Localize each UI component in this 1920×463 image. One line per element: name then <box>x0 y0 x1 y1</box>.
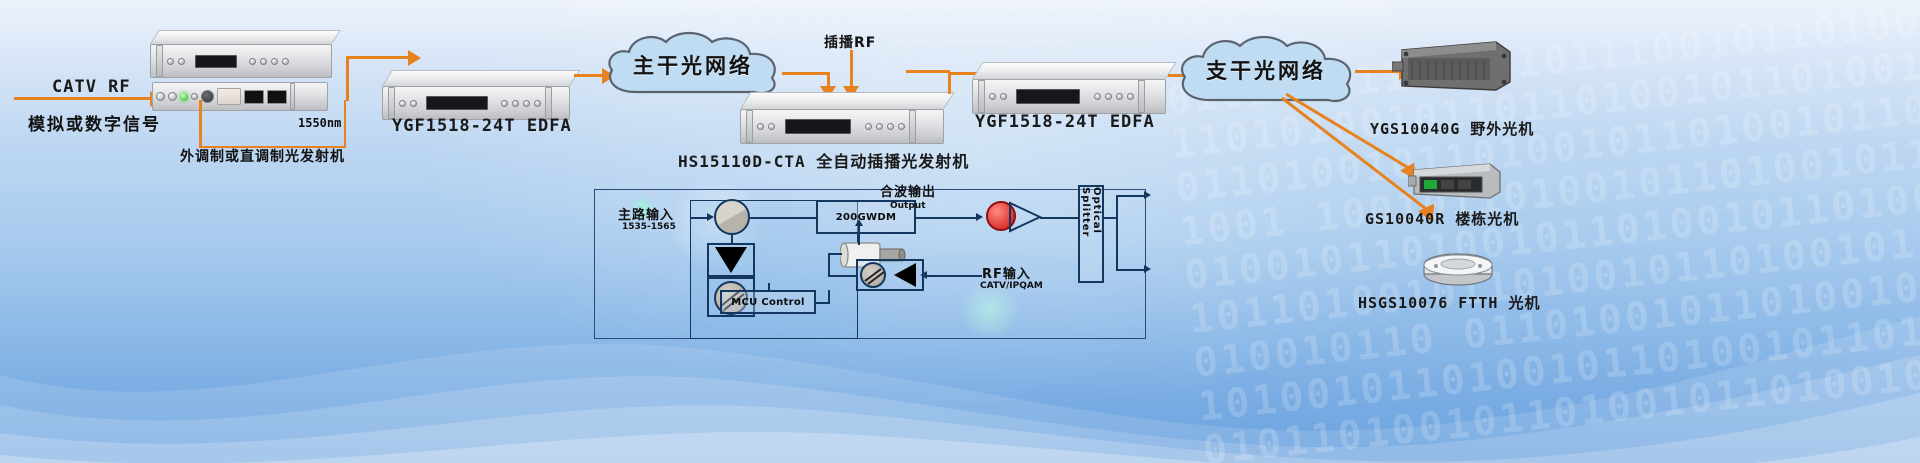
rack-ear <box>545 87 552 119</box>
gs10040r-label: GS10040R 楼栋光机 <box>1365 208 1519 229</box>
panel-knob[interactable] <box>1000 93 1007 100</box>
rack-ear <box>746 110 753 143</box>
splitter-out-1 <box>1116 195 1146 197</box>
insert-rf-arrow-line <box>850 50 853 88</box>
main-input-line <box>690 217 708 219</box>
splitter-out-1-arrow <box>1144 191 1151 199</box>
panel-knob[interactable] <box>168 92 177 101</box>
output-label-en: Output <box>890 201 926 211</box>
panel-knob[interactable] <box>989 93 996 100</box>
optical-splitter-label: Optical Splitter <box>1080 187 1102 281</box>
optical-coupler-icon <box>714 199 750 235</box>
amplifier-triangle-icon <box>1008 201 1042 233</box>
transmitter-to-edfa2-riser <box>948 72 951 94</box>
wavelength-label: 1550nm <box>298 116 341 130</box>
panel-knob[interactable] <box>757 123 764 130</box>
panel-display <box>195 55 237 68</box>
panel-knob[interactable] <box>876 123 883 130</box>
splitter-out-2 <box>1116 269 1146 271</box>
output-label-cn: 合波输出 <box>880 181 936 200</box>
panel-knob[interactable] <box>260 58 267 65</box>
transmitter-to-edfa1-arrow-line <box>346 56 410 59</box>
transmitter-to-edfa1-arrow-head <box>408 50 421 66</box>
status-led-green <box>180 93 188 101</box>
main-input-arrow <box>707 213 714 221</box>
wdm-to-output-line <box>916 217 978 219</box>
transmitter-to-edfa1-riser <box>346 56 349 101</box>
splitter-to-bus-line <box>1104 217 1118 219</box>
chassis-front-panel <box>382 86 570 120</box>
panel-knob[interactable] <box>282 58 289 65</box>
rack-ear <box>1138 80 1145 113</box>
device-hs15110d-cta-transmitter[interactable] <box>740 92 944 144</box>
splitter-output-bus <box>1116 195 1118 271</box>
rack-ear <box>909 110 916 143</box>
panel-knob[interactable] <box>399 100 406 107</box>
laser-to-wdm-line <box>858 223 860 245</box>
panel-knob[interactable] <box>534 100 541 107</box>
panel-knob[interactable] <box>167 58 174 65</box>
main-transmitter-label: HS15110D-CTA 全自动插播光发射机 <box>678 148 969 172</box>
device-gs10040r-building-node[interactable] <box>1408 160 1504 202</box>
main-input-label: 主路输入 <box>618 204 674 223</box>
chassis-front-panel <box>150 44 332 78</box>
chassis-front-panel <box>740 109 944 144</box>
chassis-top-surface <box>382 70 580 86</box>
chassis-top-surface <box>740 92 955 109</box>
hsgs10076-label: HSGS10076 FTTH 光机 <box>1358 292 1540 313</box>
panel-display <box>426 96 488 110</box>
rf-input-line <box>926 275 982 277</box>
panel-knob[interactable] <box>271 58 278 65</box>
rf-input-label-cn: RF输入 <box>982 263 1031 282</box>
panel-knob[interactable] <box>501 100 508 107</box>
panel-knob[interactable] <box>410 100 417 107</box>
transmitter-upward-connector <box>906 70 950 73</box>
panel-knob[interactable] <box>898 123 905 130</box>
device-ygs10040g-outdoor-node[interactable] <box>1392 36 1516 94</box>
ygs10040g-label: YGS10040G 野外光机 <box>1370 118 1534 139</box>
laser-to-wdm-arrow <box>855 219 863 226</box>
rf-amplifier-triangle-icon <box>894 263 916 287</box>
panel-knob[interactable] <box>1127 93 1134 100</box>
panel-knob[interactable] <box>156 92 165 101</box>
edfa-1-label: YGF1518-24T EDFA <box>392 116 572 136</box>
rf-block-feed-line <box>828 275 858 277</box>
mcu-control-block: MCU Control <box>720 290 816 314</box>
rack-ear <box>978 80 985 113</box>
mcu-to-rf-riser <box>828 290 830 302</box>
rf-to-laser-link <box>828 253 842 255</box>
panel-display <box>1016 89 1080 104</box>
wdm-label: 200GWDM <box>836 212 896 223</box>
rf-input-label-en: CATV/IPQAM <box>980 281 1043 291</box>
backbone-to-transmitter-arrow-line <box>782 72 830 75</box>
main-input-range-label: 1535-1565 <box>622 222 676 232</box>
rf-to-laser-riser <box>828 253 830 277</box>
insert-rf-label: 插播RF <box>824 32 876 52</box>
transmitter-caption: 外调制或直调制光发射机 <box>180 146 345 166</box>
rack-ear <box>388 87 395 119</box>
mcu-to-rf-line <box>816 302 830 304</box>
panel-knob[interactable] <box>1105 93 1112 100</box>
panel-knob[interactable] <box>191 93 198 100</box>
catv-rf-label: CATV RF <box>52 77 131 97</box>
panel-display <box>785 119 851 134</box>
attenuator-triangle-icon <box>715 247 747 273</box>
rf-attenuator-slash-icon <box>860 262 886 288</box>
panel-knob[interactable] <box>1094 93 1101 100</box>
signal-type-label: 模拟或数字信号 <box>28 110 161 135</box>
panel-knob[interactable] <box>1116 93 1123 100</box>
amplifier-to-splitter-line <box>1040 217 1078 219</box>
chassis-front-panel <box>972 79 1166 114</box>
input-signal-arrow-line <box>14 97 152 100</box>
panel-knob[interactable] <box>178 58 185 65</box>
mcu-up-riser <box>768 283 770 291</box>
mcu-control-label: MCU Control <box>731 297 805 308</box>
optical-splitter-block: Optical Splitter <box>1078 185 1104 283</box>
device-hsgs10076-ftth-node[interactable] <box>1420 248 1496 288</box>
panel-knob[interactable] <box>887 123 894 130</box>
edfa-2-label: YGF1518-24T EDFA <box>975 112 1155 132</box>
panel-knob[interactable] <box>768 123 775 130</box>
splitter-out-2-arrow <box>1144 265 1151 273</box>
panel-knob[interactable] <box>249 58 256 65</box>
device-laser-transmitter-top[interactable] <box>150 30 332 78</box>
transmitter-block-diagram: 主路输入 1535-1565 200GWDM 合波输出 Output Optic… <box>590 175 1150 340</box>
wdm-output-arrow <box>976 213 983 221</box>
panel-knob[interactable] <box>512 100 519 107</box>
coupler-to-wdm-line <box>750 217 816 219</box>
device-edfa-2[interactable] <box>972 62 1166 114</box>
rack-ear <box>156 45 163 77</box>
chassis-top-surface <box>972 62 1177 79</box>
chassis-top-surface <box>150 30 341 44</box>
device-edfa-1[interactable] <box>382 70 570 120</box>
panel-knob[interactable] <box>523 100 530 107</box>
panel-knob[interactable] <box>865 123 872 130</box>
